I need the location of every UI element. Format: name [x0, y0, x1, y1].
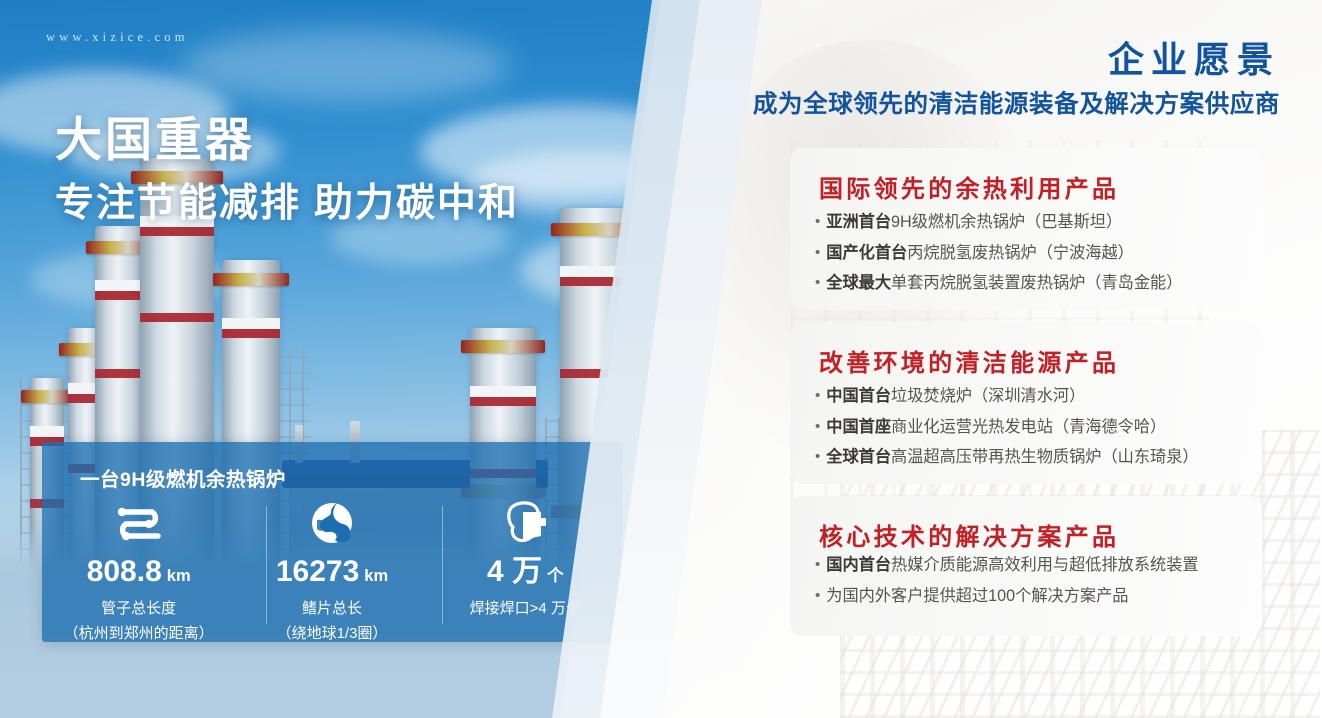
stat-label-line2: （杭州到郑州的距离）: [64, 622, 214, 643]
card-title: 国际领先的余热利用产品: [819, 169, 1119, 204]
bullet-dot-icon: •: [815, 446, 820, 467]
bullet-strong: 中国首台: [826, 387, 891, 405]
list-item: • 国内首台热媒介质能源高效利用与超低排放系统装置: [815, 554, 1248, 577]
list-item: • 亚洲首台9H级燃机余热锅炉（巴基斯坦）: [815, 211, 1248, 234]
bullet-text: 全球首台高温超高压带再热生物质锅炉（山东琦泉）: [826, 446, 1198, 469]
stat-value: 16273 km: [276, 557, 388, 587]
bullet-strong: 国产化首台: [826, 244, 907, 262]
vision-card-2: 改善环境的清洁能源产品 • 中国首台垃圾焚烧炉（深圳清水河） • 中国首座商业化…: [790, 322, 1262, 484]
stat-label-line1: 焊接焊口>4 万个: [470, 597, 581, 618]
bullet-dot-icon: •: [815, 211, 820, 232]
bullet-text: 国内首台热媒介质能源高效利用与超低排放系统装置: [826, 554, 1198, 577]
stat-number: 16273: [276, 557, 359, 587]
welding-helmet-icon: [501, 500, 549, 546]
vision-card-3: 核心技术的解决方案产品 • 国内首台热媒介质能源高效利用与超低排放系统装置 • …: [790, 496, 1262, 636]
bullet-rest: 热媒介质能源高效利用与超低排放系统装置: [891, 556, 1199, 574]
card-bullet-list: • 亚洲首台9H级燃机余热锅炉（巴基斯坦） • 国产化首台丙烷脱氢废热锅炉（宁波…: [815, 211, 1248, 303]
bullet-rest: 单套丙烷脱氢装置废热锅炉（青岛金能）: [891, 274, 1182, 292]
list-item: • 中国首座商业化运营光热发电站（青海德令哈）: [815, 416, 1248, 439]
stat-item-fin-length: 16273 km 鳍片总长 （绕地球1/3圈）: [235, 500, 428, 643]
vision-title: 企业愿景: [1108, 31, 1280, 83]
list-item: • 国产化首台丙烷脱氢废热锅炉（宁波海越）: [815, 242, 1248, 265]
bullet-dot-icon: •: [815, 242, 820, 263]
bullet-dot-icon: •: [815, 385, 820, 406]
list-item: • 为国内外客户提供超过100个解决方案产品: [815, 585, 1248, 608]
stat-number: 4 万: [487, 557, 542, 587]
cloud: [180, 30, 510, 102]
bullet-strong: 全球首台: [826, 448, 891, 466]
list-item: • 全球首台高温超高压带再热生物质锅炉（山东琦泉）: [815, 446, 1248, 469]
hero-subtitle: 专注节能减排 助力碳中和: [55, 172, 519, 228]
bullet-strong: 亚洲首台: [826, 213, 891, 231]
bullet-text: 为国内外客户提供超过100个解决方案产品: [826, 585, 1128, 608]
bullet-strong: 国内首台: [826, 556, 891, 574]
card-bullet-list: • 国内首台热媒介质能源高效利用与超低排放系统装置 • 为国内外客户提供超过10…: [815, 554, 1248, 615]
stats-columns: 808.8 km 管子总长度 （杭州到郑州的距离）: [42, 500, 622, 643]
globe-icon: [309, 500, 355, 546]
bullet-rest: 商业化运营光热发电站（青海德令哈）: [891, 418, 1166, 436]
bullet-text: 亚洲首台9H级燃机余热锅炉（巴基斯坦）: [826, 211, 1122, 234]
stat-number: 808.8: [87, 557, 162, 587]
bullet-rest: 丙烷脱氢废热锅炉（宁波海越）: [907, 244, 1134, 262]
bullet-rest: 为国内外客户提供超过100个解决方案产品: [826, 587, 1128, 605]
serpentine-pipe-icon: [108, 500, 170, 546]
stats-panel: 一台9H级燃机余热锅炉: [42, 442, 622, 642]
stat-label-line1: 管子总长度: [101, 597, 176, 618]
card-title: 核心技术的解决方案产品: [819, 517, 1119, 552]
bullet-strong: 中国首座: [826, 418, 891, 436]
stat-unit: km: [364, 568, 388, 585]
bullet-dot-icon: •: [815, 272, 820, 293]
bullet-strong: 全球最大: [826, 274, 891, 292]
hero-title: 大国重器: [55, 101, 255, 170]
stat-value: 4 万 个: [487, 557, 564, 587]
stat-label-line2: （绕地球1/3圈）: [277, 622, 388, 643]
stat-label-line1: 鳍片总长: [302, 597, 362, 618]
stat-item-pipe-length: 808.8 km 管子总长度 （杭州到郑州的距离）: [42, 500, 235, 643]
bullet-dot-icon: •: [815, 585, 820, 606]
bullet-text: 全球最大单套丙烷脱氢装置废热锅炉（青岛金能）: [826, 272, 1182, 295]
bullet-text: 中国首座商业化运营光热发电站（青海德令哈）: [826, 416, 1166, 439]
bullet-dot-icon: •: [815, 416, 820, 437]
bullet-text: 国产化首台丙烷脱氢废热锅炉（宁波海越）: [826, 242, 1134, 265]
card-bullet-list: • 中国首台垃圾焚烧炉（深圳清水河） • 中国首座商业化运营光热发电站（青海德令…: [815, 385, 1248, 477]
card-title: 改善环境的清洁能源产品: [819, 343, 1119, 378]
bullet-text: 中国首台垃圾焚烧炉（深圳清水河）: [826, 385, 1085, 408]
slide-canvas: www.xizice.com 大国重器 专注节能减排 助力碳中和 一台9H级燃机…: [0, 0, 1322, 718]
bullet-rest: 高温超高压带再热生物质锅炉（山东琦泉）: [891, 448, 1199, 466]
stat-value: 808.8 km: [87, 557, 191, 587]
list-item: • 全球最大单套丙烷脱氢装置废热锅炉（青岛金能）: [815, 272, 1248, 295]
vision-card-1: 国际领先的余热利用产品 • 亚洲首台9H级燃机余热锅炉（巴基斯坦） • 国产化首…: [790, 148, 1262, 310]
site-watermark: www.xizice.com: [46, 30, 189, 45]
bullet-rest: 9H级燃机余热锅炉（巴基斯坦）: [891, 213, 1122, 231]
stat-unit: km: [167, 568, 191, 585]
bullet-dot-icon: •: [815, 554, 820, 575]
vision-subtitle: 成为全球领先的清洁能源装备及解决方案供应商: [753, 85, 1280, 120]
list-item: • 中国首台垃圾焚烧炉（深圳清水河）: [815, 385, 1248, 408]
bullet-rest: 垃圾焚烧炉（深圳清水河）: [891, 387, 1085, 405]
stat-unit: 个: [547, 568, 564, 585]
stats-panel-title: 一台9H级燃机余热锅炉: [80, 463, 286, 492]
